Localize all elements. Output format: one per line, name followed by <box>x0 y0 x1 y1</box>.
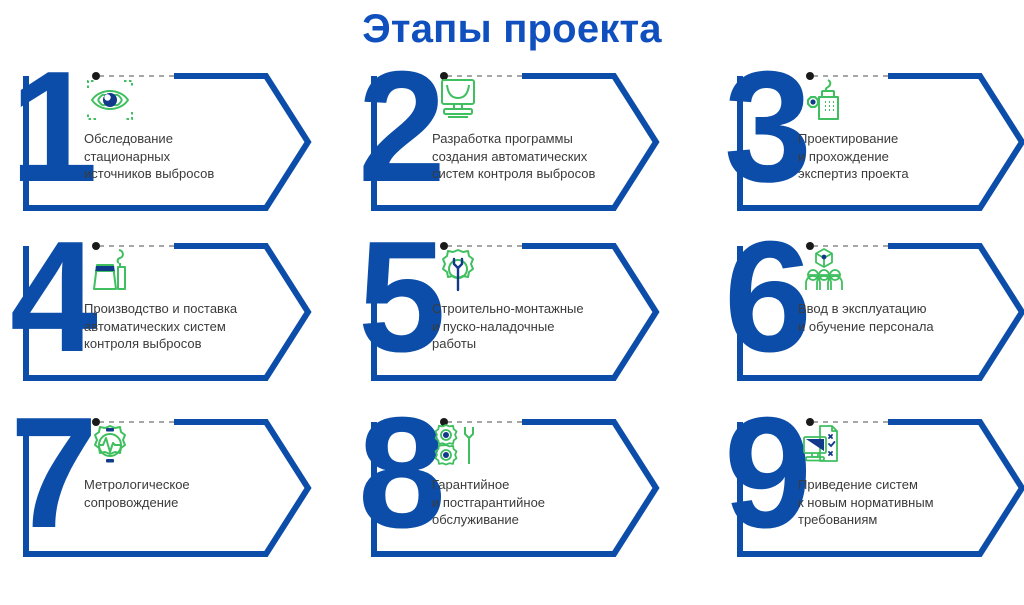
step-text: Гарантийное и постгарантийное обслуживан… <box>432 476 637 529</box>
eye-scan-icon <box>84 76 136 126</box>
step-number: 8 <box>358 394 442 552</box>
page-title: Этапы проекта <box>0 0 1024 52</box>
two-gears-wrench-icon <box>432 422 484 472</box>
step-number: 1 <box>10 48 94 206</box>
factory-gear-eye-icon <box>798 76 850 126</box>
step-card-7[interactable]: 7 Метрологическое сопровождение <box>8 408 320 568</box>
step-text: Обследование стационарных источников выб… <box>84 130 289 183</box>
step-text: Производство и поставка автоматических с… <box>84 300 289 353</box>
step-number: 4 <box>10 218 94 376</box>
step-text: Приведение систем к новым нормативным тр… <box>798 476 988 529</box>
step-card-1[interactable]: 1 Обследование стационарных источников в… <box>8 62 320 222</box>
step-number: 2 <box>358 48 442 206</box>
step-card-3[interactable]: 3 Проектирование и прохождение экспертиз… <box>722 62 1024 222</box>
monitor-chart-icon <box>432 76 484 126</box>
step-card-4[interactable]: 4 Производство и поставка автоматических… <box>8 232 320 392</box>
cooling-tower-icon <box>84 246 136 296</box>
step-card-6[interactable]: 6 Ввод в эксплуатацию и обучение персона… <box>722 232 1024 392</box>
step-text: Метрологическое сопровождение <box>84 476 289 511</box>
step-card-8[interactable]: 8 Гарантийное и постгарантийное обслужив… <box>356 408 668 568</box>
step-number: 6 <box>724 218 808 376</box>
step-card-5[interactable]: 5 Строительно-монтажные и пуско-наладочн… <box>356 232 668 392</box>
step-number: 3 <box>724 48 808 206</box>
step-text: Разработка программы создания автоматиче… <box>432 130 637 183</box>
steps-grid: 1 Обследование стационарных источников в… <box>0 54 1024 574</box>
step-number: 9 <box>724 394 808 552</box>
step-card-9[interactable]: 9 Приведение систем к новым нормативным … <box>722 408 1024 568</box>
step-text: Строительно-монтажные и пуско-наладочные… <box>432 300 637 353</box>
people-box-icon <box>798 246 850 296</box>
monitor-checklist-icon <box>798 422 850 472</box>
step-number: 7 <box>10 394 94 552</box>
step-text: Проектирование и прохождение экспертиз п… <box>798 130 988 183</box>
step-number: 5 <box>358 218 442 376</box>
step-text: Ввод в эксплуатацию и обучение персонала <box>798 300 988 335</box>
gear-pulse-icon <box>84 422 136 472</box>
gear-wrench-icon <box>432 246 484 296</box>
step-card-2[interactable]: 2 Разработка программы создания автомати… <box>356 62 668 222</box>
